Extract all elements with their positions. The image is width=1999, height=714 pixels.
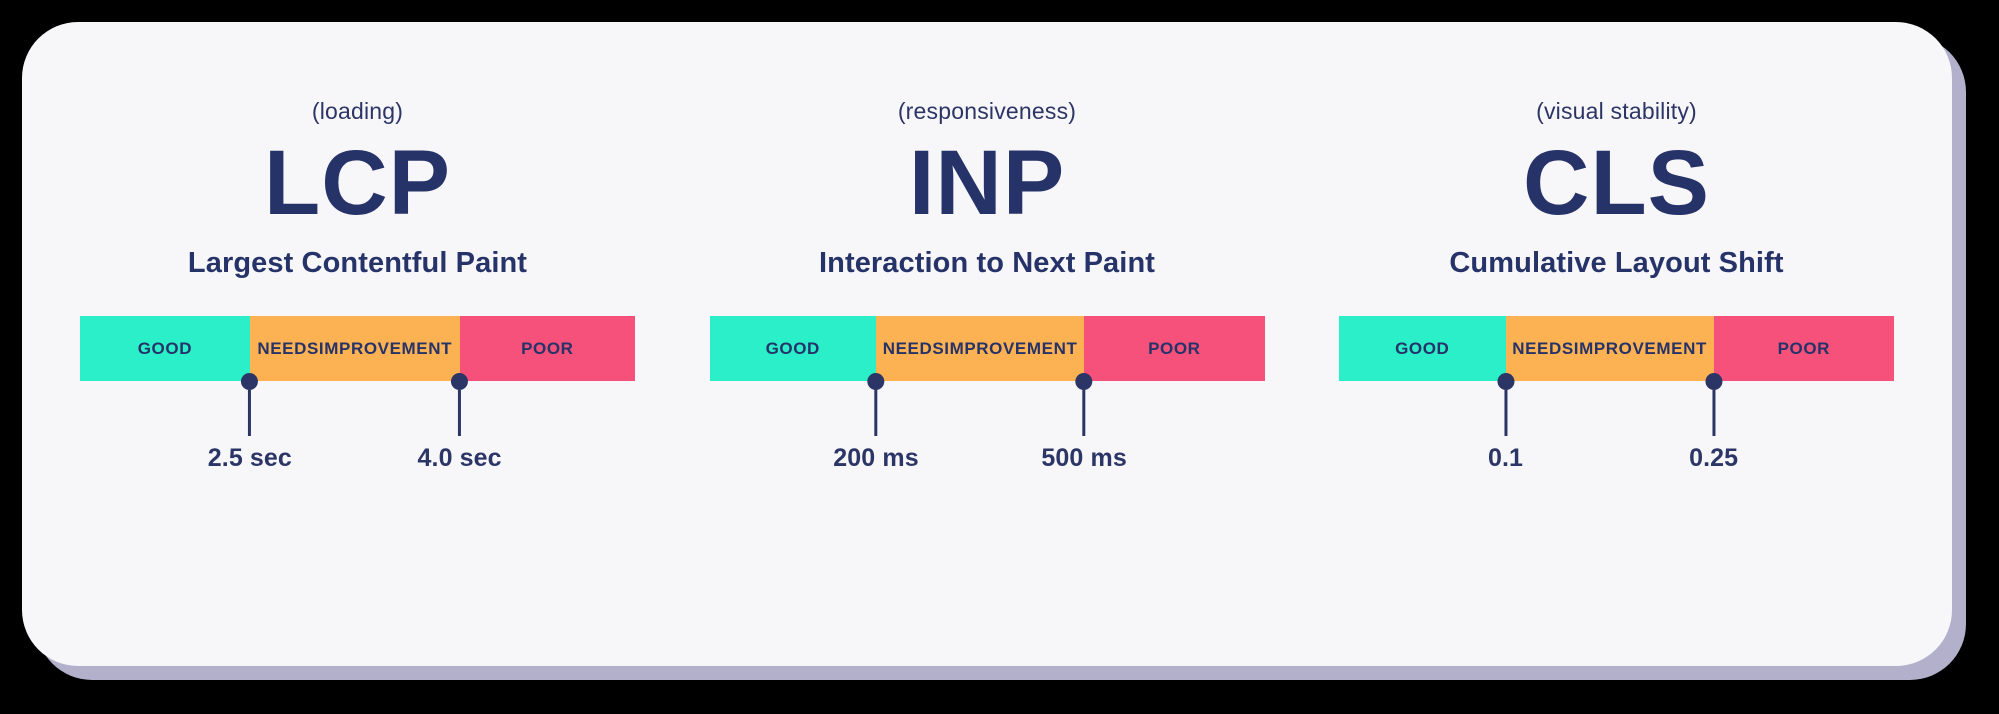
metrics-row: (loading)LCPLargest Contentful PaintGOOD…	[22, 22, 1952, 666]
bar-segment-label: POOR	[521, 339, 573, 358]
bar-segment: NEEDSIMPROVEMENT	[1506, 316, 1714, 381]
bar-segment: GOOD	[80, 316, 250, 381]
threshold-bar-wrapper: GOODNEEDSIMPROVEMENTPOOR0.10.25	[1339, 316, 1894, 381]
metric-lcp: (loading)LCPLargest Contentful PaintGOOD…	[80, 22, 635, 666]
bar-segment: GOOD	[710, 316, 877, 381]
infographic-stage: (loading)LCPLargest Contentful PaintGOOD…	[0, 0, 1999, 714]
bar-segment: GOOD	[1339, 316, 1506, 381]
metric-fullname: Cumulative Layout Shift	[1449, 249, 1783, 278]
bar-segment-label: NEEDS	[883, 339, 945, 358]
metric-acronym: INP	[909, 137, 1065, 231]
bar-segment-label: GOOD	[1395, 339, 1449, 358]
threshold-stem	[1712, 390, 1715, 436]
metric-acronym: CLS	[1523, 137, 1710, 231]
bar-segment: POOR	[1714, 316, 1894, 381]
bar-segment-label: IMPROVEMENT	[319, 339, 452, 358]
threshold-stem	[1504, 390, 1507, 436]
threshold-value-label: 500 ms	[1041, 444, 1126, 473]
bar-segment-label: IMPROVEMENT	[944, 339, 1077, 358]
metrics-card: (loading)LCPLargest Contentful PaintGOOD…	[22, 22, 1952, 666]
bar-segment-label: NEEDS	[257, 339, 319, 358]
threshold-value-label: 200 ms	[833, 444, 918, 473]
metric-category: (responsiveness)	[898, 100, 1076, 123]
threshold-bar: GOODNEEDSIMPROVEMENTPOOR	[80, 316, 635, 381]
bar-segment-label: GOOD	[766, 339, 820, 358]
bar-segment-label: IMPROVEMENT	[1574, 339, 1707, 358]
bar-segment: NEEDSIMPROVEMENT	[876, 316, 1084, 381]
threshold-stem	[248, 390, 251, 436]
threshold-bar: GOODNEEDSIMPROVEMENTPOOR	[1339, 316, 1894, 381]
metric-category: (visual stability)	[1536, 100, 1697, 123]
threshold-bar: GOODNEEDSIMPROVEMENTPOOR	[710, 316, 1265, 381]
threshold-marker: 0.1	[1488, 373, 1523, 473]
bar-segment: POOR	[460, 316, 635, 381]
threshold-bar-wrapper: GOODNEEDSIMPROVEMENTPOOR2.5 sec4.0 sec	[80, 316, 635, 381]
metric-acronym: LCP	[264, 137, 451, 231]
metric-fullname: Interaction to Next Paint	[819, 249, 1155, 278]
threshold-marker: 0.25	[1689, 373, 1738, 473]
threshold-stem	[458, 390, 461, 436]
threshold-value-label: 2.5 sec	[208, 444, 292, 473]
metric-fullname: Largest Contentful Paint	[188, 249, 527, 278]
metric-cls: (visual stability)CLSCumulative Layout S…	[1339, 22, 1894, 666]
threshold-marker: 4.0 sec	[418, 373, 502, 473]
threshold-stem	[1083, 390, 1086, 436]
threshold-value-label: 0.25	[1689, 444, 1738, 473]
threshold-marker: 2.5 sec	[208, 373, 292, 473]
metric-category: (loading)	[312, 100, 403, 123]
threshold-marker: 200 ms	[833, 373, 918, 473]
bar-segment-label: POOR	[1148, 339, 1200, 358]
metric-inp: (responsiveness)INPInteraction to Next P…	[710, 22, 1265, 666]
bar-segment: NEEDSIMPROVEMENT	[250, 316, 460, 381]
threshold-bar-wrapper: GOODNEEDSIMPROVEMENTPOOR200 ms500 ms	[710, 316, 1265, 381]
bar-segment-label: POOR	[1778, 339, 1830, 358]
bar-segment-label: GOOD	[138, 339, 192, 358]
bar-segment: POOR	[1084, 316, 1264, 381]
threshold-stem	[874, 390, 877, 436]
threshold-marker: 500 ms	[1041, 373, 1126, 473]
threshold-value-label: 4.0 sec	[418, 444, 502, 473]
threshold-value-label: 0.1	[1488, 444, 1523, 473]
bar-segment-label: NEEDS	[1512, 339, 1574, 358]
